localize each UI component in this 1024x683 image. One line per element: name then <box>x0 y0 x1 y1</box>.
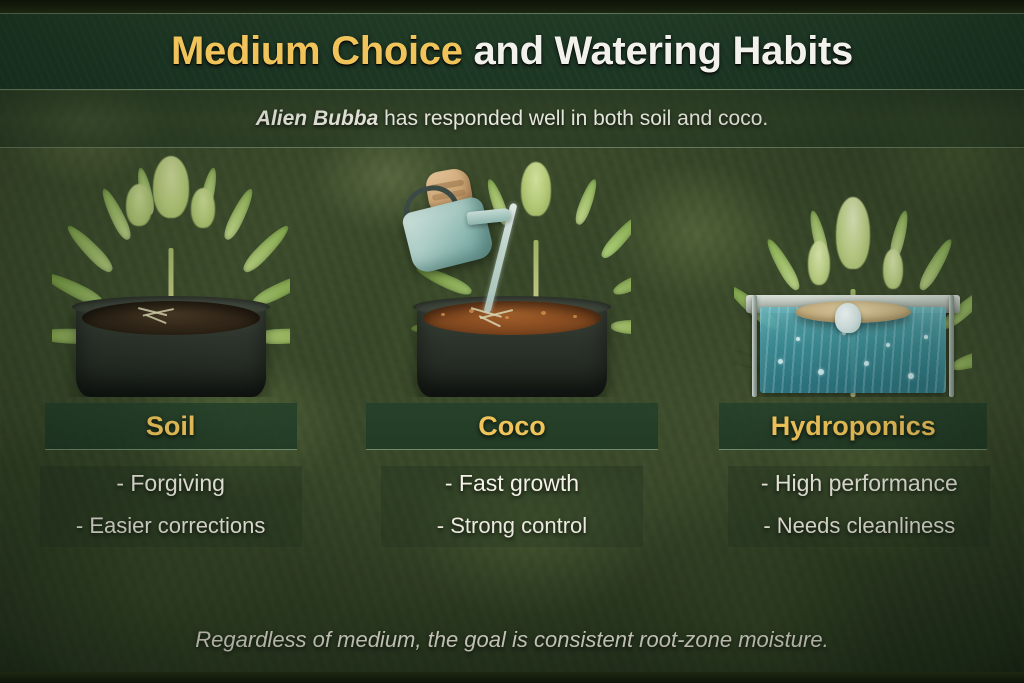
water-bubble <box>908 373 914 379</box>
top-edge-strip <box>0 0 1024 13</box>
water-bubble <box>864 361 869 366</box>
plant-flower-bud <box>883 249 903 289</box>
grow-raft-disc <box>795 301 911 323</box>
coco-fleck <box>541 311 546 315</box>
water-bubble <box>818 369 824 375</box>
subtitle: Alien Bubba has responded well in both s… <box>256 107 768 131</box>
watering-can-icon <box>399 168 511 284</box>
plant-leaf <box>763 236 803 293</box>
bullet-list-soil: - Forgiving - Easier corrections <box>40 466 302 547</box>
soil-illustration <box>52 154 290 397</box>
coco-fleck <box>573 315 577 318</box>
hydroponics-illustration <box>734 154 972 397</box>
subtitle-strain-name: Alien Bubba <box>256 107 379 130</box>
plant-leaf <box>611 319 631 335</box>
list-item: - Easier corrections <box>76 513 266 539</box>
footer-note: Regardless of medium, the goal is consis… <box>195 627 828 653</box>
page-title-rest: and Watering Habits <box>463 29 853 73</box>
rig-frame-post <box>752 295 757 397</box>
plant-flower-bud <box>808 241 830 285</box>
bottom-edge-strip <box>0 672 1024 683</box>
coco-pot <box>417 305 607 397</box>
coco-coir-surface <box>423 301 601 335</box>
plant-leaf <box>611 262 631 298</box>
column-header-coco: Coco <box>366 403 658 450</box>
subtitle-band: Alien Bubba has responded well in both s… <box>0 91 1024 148</box>
coco-fleck <box>441 313 445 316</box>
subtitle-rest: has responded well in both soil and coco… <box>378 107 768 130</box>
page-title-highlight: Medium Choice <box>171 29 463 73</box>
plant-flower-bud <box>191 188 215 228</box>
coco-fleck <box>505 316 509 319</box>
list-item: - High performance <box>761 470 958 497</box>
list-item: - Strong control <box>437 513 587 539</box>
column-hydroponics: Hydroponics - High performance - Needs c… <box>683 150 1024 560</box>
column-coco: Coco - Fast growth - Strong control <box>341 150 682 560</box>
soil-surface <box>82 301 260 335</box>
plant-leaf <box>63 221 116 275</box>
plant-flower-bud <box>521 162 551 216</box>
rig-frame-post <box>949 295 954 397</box>
plant-leaf <box>220 186 256 242</box>
page-title: Medium Choice and Watering Habits <box>171 29 853 74</box>
plant-flower-bud <box>153 156 189 218</box>
column-title: Hydroponics <box>771 411 936 442</box>
footer-note-band: Regardless of medium, the goal is consis… <box>0 608 1024 672</box>
plant-flower-bud <box>126 184 152 226</box>
plant-leaf <box>598 211 631 261</box>
list-item: - Fast growth <box>445 470 579 497</box>
column-header-soil: Soil <box>45 403 297 450</box>
column-header-hydroponics: Hydroponics <box>719 403 987 450</box>
plant-leaf <box>573 177 601 226</box>
water-bubble <box>778 359 783 364</box>
hydroponic-rig <box>746 295 960 397</box>
column-title: Soil <box>146 411 196 442</box>
rockwool-cube-icon <box>835 303 861 333</box>
water-bubble <box>924 335 928 339</box>
list-item: - Forgiving <box>116 470 225 497</box>
plant-leaf <box>239 221 289 275</box>
soil-pot <box>76 305 266 397</box>
water-bubble <box>796 337 800 341</box>
medium-columns: Soil - Forgiving - Easier corrections <box>0 150 1024 560</box>
list-item: - Needs cleanliness <box>763 513 955 539</box>
coco-illustration <box>393 154 631 397</box>
plant-leaf <box>916 236 956 293</box>
bullet-list-coco: - Fast growth - Strong control <box>381 466 643 547</box>
plant-flower-bud <box>836 197 870 269</box>
column-soil: Soil - Forgiving - Easier corrections <box>0 150 341 560</box>
title-band: Medium Choice and Watering Habits <box>0 13 1024 90</box>
bullet-list-hydroponics: - High performance - Needs cleanliness <box>728 466 990 547</box>
infographic-canvas: Medium Choice and Watering Habits Alien … <box>0 0 1024 683</box>
column-title: Coco <box>478 411 546 442</box>
water-bubble <box>886 343 890 347</box>
